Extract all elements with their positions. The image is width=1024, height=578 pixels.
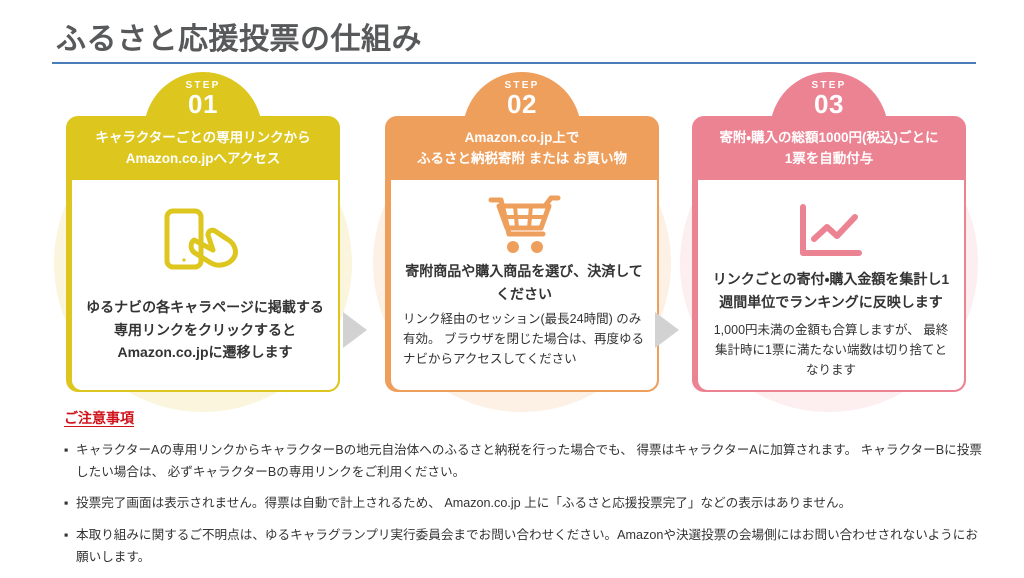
note-bullet-icon: ▪ (64, 493, 76, 515)
step-head-line1-02: Amazon.co.jp上で (465, 128, 580, 149)
step-head-line1-01: キャラクターごとの専用リンクから (95, 128, 310, 149)
step-badge-02: STEP 02 (463, 72, 581, 131)
note-bullet-icon: ▪ (64, 525, 76, 547)
shopping-cart-icon (487, 190, 561, 260)
step-head-line2-02: ふるさと納税寄附 または お買い物 (417, 149, 627, 170)
step-strong-text-03: リンクごとの寄付・購入金額を集計し1週間単位でランキングに反映します (710, 268, 952, 313)
step-card-body-02: Amazon.co.jp上で ふるさと納税寄附 または お買い物 (385, 116, 659, 392)
page-title: ふるさと応援投票の仕組み (56, 14, 422, 58)
title-divider (52, 62, 976, 64)
step-head-line2-03: 1票を自動付与 (785, 149, 874, 170)
step-strong-text-02: 寄附商品や購入商品を選び、決済してください (403, 260, 645, 305)
arrow-connector-1 (343, 312, 367, 348)
note-bullet-icon: ▪ (64, 440, 76, 462)
step-badge-01: STEP 01 (144, 72, 262, 131)
note-text: 投票完了画面は表示されません。得票は自動で計上されるため、 Amazon.co.… (76, 493, 989, 515)
tap-phone-icon (164, 200, 246, 278)
line-chart-icon (795, 196, 867, 268)
step-note-text-03: 1,000円未満の金額も合算しますが、 最終集計時に1票に満たない端数は切り捨て… (710, 320, 952, 380)
step-badge-number-01: 01 (144, 91, 262, 118)
step-card-02: STEP 02 Amazon.co.jp上で ふるさと納税寄附 または お買い物 (385, 72, 659, 392)
step-card-body-01: キャラクターごとの専用リンクから Amazon.co.jpへアクセス ゆるナビの… (66, 116, 340, 392)
step-head-line2-01: Amazon.co.jpへアクセス (126, 149, 281, 170)
step-card-01: STEP 01 キャラクターごとの専用リンクから Amazon.co.jpへアク… (66, 72, 340, 392)
note-item: ▪ 投票完了画面は表示されません。得票は自動で計上されるため、 Amazon.c… (64, 493, 989, 515)
step-content-01: ゆるナビの各キャラページに掲載する専用リンクをクリックするとAmazon.co.… (72, 180, 338, 390)
step-card-body-03: 寄附・購入の総額1000円(税込)ごとに 1票を自動付与 リンクごとの寄付・購入… (692, 116, 966, 392)
step-head-line1-03: 寄附・購入の総額1000円(税込)ごとに (719, 128, 938, 149)
step-badge-number-03: 03 (770, 91, 888, 118)
step-strong-text-01: ゆるナビの各キャラページに掲載する専用リンクをクリックするとAmazon.co.… (84, 296, 326, 364)
notes-section: ご注意事項 ▪ キャラクターAの専用リンクからキャラクターBの地元自治体へのふる… (64, 408, 989, 578)
step-badge-03: STEP 03 (770, 72, 888, 131)
note-item: ▪ キャラクターAの専用リンクからキャラクターBの地元自治体へのふるさと納税を行… (64, 440, 989, 483)
step-card-03: STEP 03 寄附・購入の総額1000円(税込)ごとに 1票を自動付与 リンク… (692, 72, 966, 392)
step-content-03: リンクごとの寄付・購入金額を集計し1週間単位でランキングに反映します 1,000… (698, 180, 964, 390)
arrow-connector-2 (655, 312, 679, 348)
note-item: ▪ 本取り組みに関するご不明点は、ゆるキャラグランプリ実行委員会までお問い合わせ… (64, 525, 989, 568)
note-text: キャラクターAの専用リンクからキャラクターBの地元自治体へのふるさと納税を行った… (76, 440, 989, 483)
notes-title: ご注意事項 (64, 408, 134, 428)
step-badge-number-02: 02 (463, 91, 581, 118)
step-note-text-02: リンク経由のセッション(最長24時間) のみ 有効。 ブラウザを閉じた場合は、再… (403, 309, 645, 369)
step-content-02: 寄附商品や購入商品を選び、決済してください リンク経由のセッション(最長24時間… (391, 180, 657, 390)
steps-container: STEP 01 キャラクターごとの専用リンクから Amazon.co.jpへアク… (0, 72, 1024, 402)
note-text: 本取り組みに関するご不明点は、ゆるキャラグランプリ実行委員会までお問い合わせくだ… (76, 525, 989, 568)
